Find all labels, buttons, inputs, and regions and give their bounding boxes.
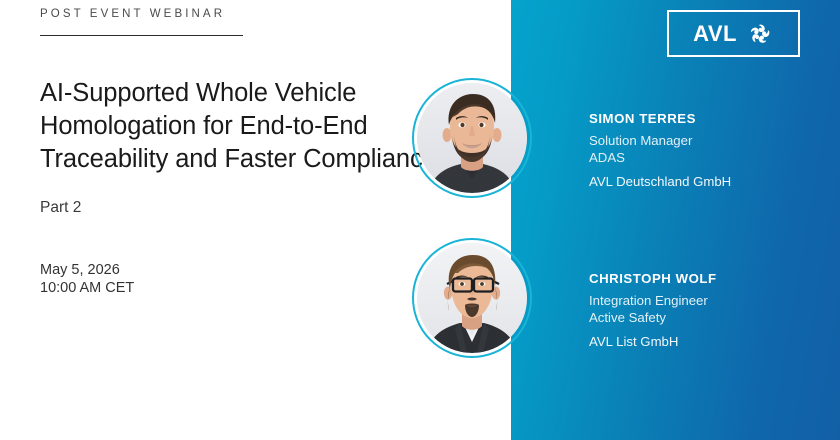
eyebrow-divider: [40, 35, 243, 36]
avl-pinwheel-icon: [746, 20, 774, 48]
speaker-role: Integration Engineer Active Safety: [589, 293, 829, 326]
speaker-name: SIMON TERRES: [589, 110, 829, 127]
avl-logo: AVL: [667, 10, 800, 57]
page-subtitle: Part 2: [40, 198, 81, 218]
avatar-ring: [412, 238, 532, 358]
speaker-company: AVL Deutschland GmbH: [589, 174, 829, 191]
event-datetime: May 5, 2026 10:00 AM CET: [40, 261, 134, 297]
avatar: [412, 238, 532, 358]
avatar: [412, 78, 532, 198]
avl-logo-inner: AVL: [693, 20, 774, 48]
avatar-ring: [412, 78, 532, 198]
speaker-role: Solution Manager ADAS: [589, 133, 829, 166]
webinar-banner: AVL: [0, 0, 840, 440]
speaker-info-1: SIMON TERRES Solution Manager ADAS AVL D…: [589, 110, 829, 191]
eyebrow-label: POST EVENT WEBINAR: [40, 8, 225, 20]
blue-gradient-panel: [511, 0, 840, 440]
avl-wordmark: AVL: [693, 23, 737, 45]
speaker-name: CHRISTOPH WOLF: [589, 270, 829, 287]
speaker-info-2: CHRISTOPH WOLF Integration Engineer Acti…: [589, 270, 829, 351]
speaker-company: AVL List GmbH: [589, 334, 829, 351]
